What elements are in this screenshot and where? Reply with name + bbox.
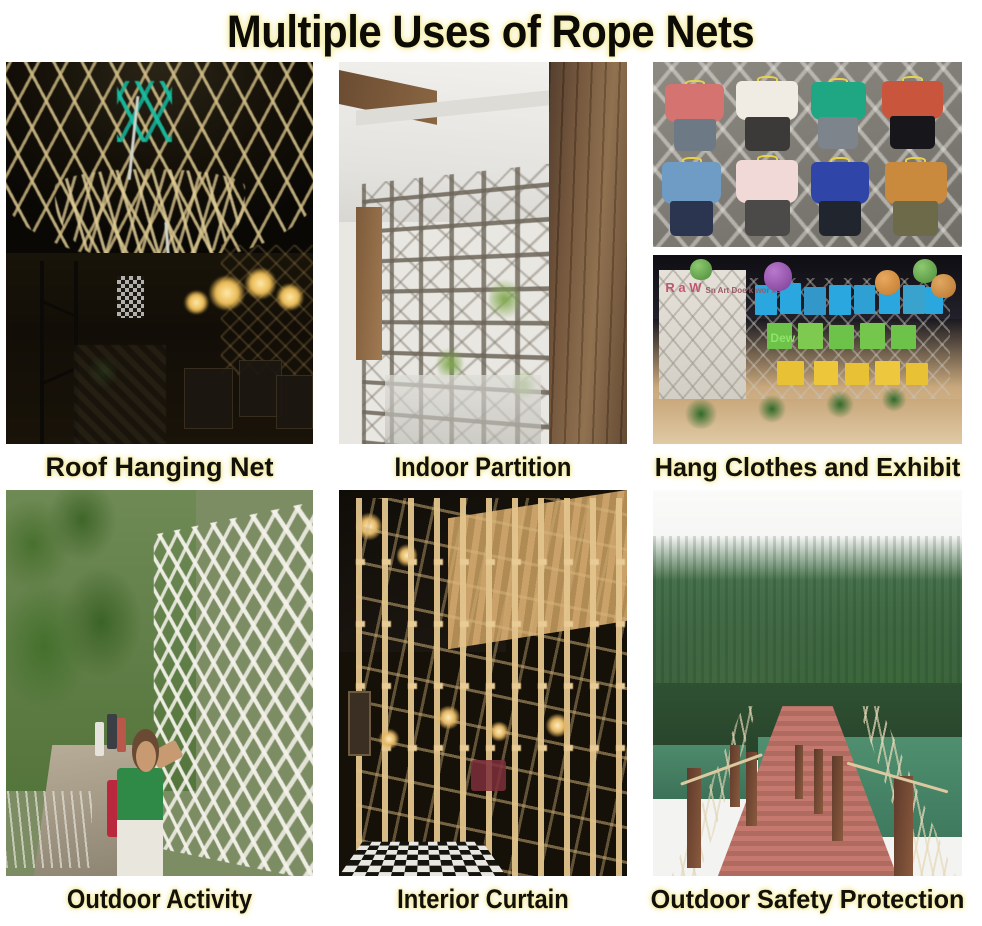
plant-foliage — [489, 276, 521, 322]
photo-hang-clothes-exhibit: Dew R a W Sn Art Doe k wor ks — [653, 62, 962, 444]
outfit-bottom — [818, 117, 858, 149]
distant-person — [107, 714, 116, 749]
display-card — [854, 285, 876, 313]
page-title: Multiple Uses of Rope Nets — [227, 9, 754, 54]
potted-plant — [826, 391, 854, 417]
caption-hang-clothes-exhibit: Hang Clothes and Exhibit — [658, 444, 958, 490]
outfit-item — [882, 81, 944, 150]
caption-outdoor-safety-protection: Outdoor Safety Protection — [658, 876, 958, 922]
outfit-bottom — [890, 116, 934, 149]
outfit-top — [811, 162, 870, 203]
photo-roof-hanging-net — [6, 62, 313, 444]
outfit-top — [885, 162, 947, 203]
teal-rope-section — [117, 81, 172, 142]
caption-roof-hanging-net: Roof Hanging Net — [6, 444, 313, 490]
potted-plant — [758, 395, 786, 423]
booth-seat — [276, 375, 313, 428]
caption-interior-curtain: Interior Curtain — [356, 876, 609, 922]
pendant-lamp — [184, 291, 209, 314]
outfit-item — [736, 160, 798, 236]
seating — [471, 760, 506, 791]
panel-hang-clothes-exhibit[interactable]: Dew R a W Sn Art Doe k wor ks Hang — [653, 62, 962, 490]
photo-interior-curtain — [339, 490, 627, 876]
exhibit-raw-text: R a W — [665, 281, 701, 295]
rope-knot-row — [356, 745, 627, 751]
outfit-item — [811, 82, 867, 149]
photo-indoor-partition — [339, 62, 627, 444]
balloon — [690, 259, 712, 280]
panel-row-2: Outdoor Activity Int — [6, 490, 976, 922]
caption-indoor-partition: Indoor Partition — [356, 444, 609, 490]
exhibit-dew-text: Dew — [770, 331, 795, 345]
bridge-post — [730, 745, 739, 807]
rope-knot-row — [356, 683, 627, 689]
pendant-lamp — [276, 284, 304, 311]
outfit-bottom — [745, 200, 789, 236]
display-card — [845, 363, 870, 386]
display-card — [860, 323, 885, 349]
caption-outdoor-activity: Outdoor Activity — [24, 876, 294, 922]
panel-interior-curtain[interactable]: Interior Curtain — [339, 490, 627, 922]
support-beam — [40, 261, 44, 444]
photo-outdoor-activity — [6, 490, 313, 876]
balloon — [764, 262, 792, 290]
panel-row-1: Roof Hanging Net Indoor Partition — [6, 62, 976, 490]
display-card — [804, 287, 826, 315]
balloon — [875, 270, 900, 295]
checkered-floor — [339, 842, 506, 876]
display-card — [814, 361, 839, 386]
display-card — [777, 361, 805, 386]
outfit-item — [736, 81, 798, 151]
wood-column-right — [549, 62, 627, 444]
pendant-lamp — [245, 268, 276, 299]
wood-post-left — [356, 207, 382, 360]
subphoto-exhibit: Dew R a W Sn Art Doe k wor ks — [653, 255, 962, 444]
display-card — [829, 325, 854, 350]
walkway-floor — [74, 345, 166, 444]
distant-person — [117, 718, 126, 753]
checker-panel — [117, 276, 145, 318]
wall-frame — [348, 691, 371, 757]
outfit-bottom — [893, 201, 937, 237]
forested-hills — [653, 536, 962, 706]
display-card — [875, 361, 900, 386]
panel-roof-hanging-net[interactable]: Roof Hanging Net — [6, 62, 313, 490]
path-railing — [6, 791, 92, 868]
outfit-item — [665, 84, 724, 151]
rope-knot-row — [356, 621, 627, 627]
display-card — [829, 285, 851, 315]
outfit-bottom — [670, 201, 712, 237]
display-card — [906, 363, 928, 386]
outfit-item — [811, 162, 870, 236]
outfit-top — [665, 84, 724, 121]
window-light — [385, 375, 541, 444]
distant-person — [95, 722, 104, 757]
display-card — [891, 325, 916, 350]
outfit-bottom — [674, 119, 716, 151]
balloon — [931, 274, 956, 299]
page-header: Multiple Uses of Rope Nets — [0, 0, 982, 62]
panel-grid: Roof Hanging Net Indoor Partition — [0, 62, 982, 922]
patterned-wall — [221, 245, 313, 375]
bridge-post — [746, 752, 757, 825]
outfit-top — [662, 162, 721, 203]
display-card — [798, 323, 823, 349]
bridge-post — [795, 745, 803, 799]
child-body — [117, 768, 163, 876]
outfit-bottom — [819, 201, 861, 237]
panel-outdoor-safety-protection[interactable]: Outdoor Safety Protection — [653, 490, 962, 922]
outfit-top — [882, 81, 944, 119]
outfit-top — [736, 160, 798, 203]
outfit-item — [662, 162, 721, 236]
panel-outdoor-activity[interactable]: Outdoor Activity — [6, 490, 313, 922]
outfit-top — [811, 82, 867, 119]
display-card — [903, 285, 925, 313]
outfit-bottom — [745, 117, 789, 151]
climbing-rope-net — [154, 498, 313, 876]
bridge-post — [832, 756, 843, 841]
potted-plant — [684, 399, 718, 429]
outfit-top — [736, 81, 798, 120]
photo-outdoor-safety-protection — [653, 490, 962, 876]
bridge-post — [687, 768, 701, 868]
bridge-post — [814, 749, 823, 815]
outfit-item — [885, 162, 947, 236]
potted-plant — [882, 387, 907, 412]
pendant-lamp — [379, 729, 399, 748]
subphoto-hang-clothes — [653, 62, 962, 247]
pendant-lamp — [489, 722, 509, 741]
bridge-post — [894, 776, 913, 876]
rope-knot-row — [356, 559, 627, 565]
booth-seat — [184, 368, 233, 429]
panel-indoor-partition[interactable]: Indoor Partition — [339, 62, 627, 490]
